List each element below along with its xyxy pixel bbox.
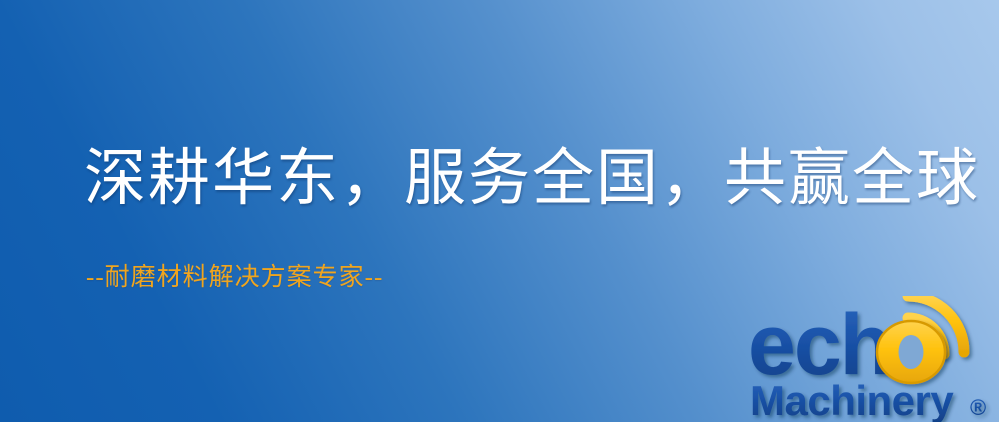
- company-logo[interactable]: ech Machinery ®: [748, 296, 999, 422]
- promotional-banner: 深耕华东，服务全国，共赢全球 --耐磨材料解决方案专家--: [0, 0, 999, 422]
- wordmark-o-highlight: [877, 321, 945, 383]
- echo-machinery-logo-svg: ech Machinery ®: [748, 296, 999, 422]
- wordmark-machinery: Machinery ®: [750, 377, 986, 422]
- banner-subtitle: --耐磨材料解决方案专家--: [86, 265, 383, 290]
- svg-text:®: ®: [970, 395, 986, 420]
- svg-text:Machinery: Machinery: [750, 377, 954, 422]
- banner-headline: 深耕华东，服务全国，共赢全球: [84, 148, 980, 210]
